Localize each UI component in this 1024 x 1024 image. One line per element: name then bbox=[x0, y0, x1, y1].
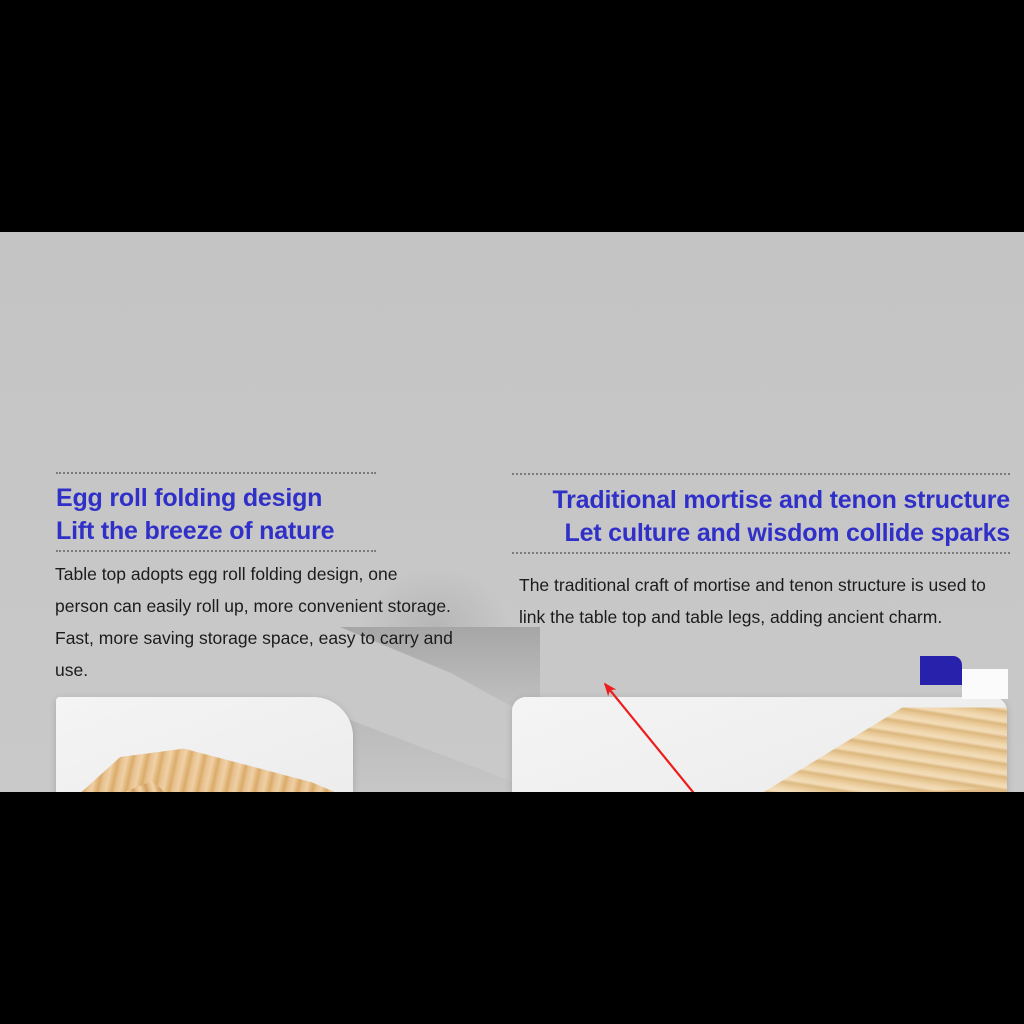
left-heading-line-2: Lift the breeze of nature bbox=[56, 515, 334, 548]
right-divider-bottom bbox=[512, 552, 1010, 554]
right-panel-heading: Traditional mortise and tenon structure … bbox=[512, 484, 1010, 550]
decor-blue-badge bbox=[920, 656, 962, 685]
decor-white-block bbox=[962, 669, 1008, 699]
content-band: Egg roll folding design Lift the breeze … bbox=[0, 232, 1024, 792]
left-panel-body: Table top adopts egg roll folding design… bbox=[55, 558, 455, 686]
callout-arrow-icon bbox=[580, 672, 740, 792]
right-heading-line-2: Let culture and wisdom collide sparks bbox=[512, 517, 1010, 550]
right-divider-top bbox=[512, 473, 1010, 475]
left-heading-line-1: Egg roll folding design bbox=[56, 482, 334, 515]
rolled-table-illustration bbox=[56, 735, 353, 792]
letterbox-bottom bbox=[0, 792, 1024, 1024]
right-panel-body: The traditional craft of mortise and ten… bbox=[519, 569, 1014, 633]
letterbox-top bbox=[0, 0, 1024, 232]
left-product-photo bbox=[56, 697, 353, 792]
slide-stage: Egg roll folding design Lift the breeze … bbox=[0, 0, 1024, 1024]
left-divider-bottom bbox=[56, 550, 376, 552]
right-heading-line-1: Traditional mortise and tenon structure bbox=[512, 484, 1010, 517]
left-panel-heading: Egg roll folding design Lift the breeze … bbox=[56, 482, 334, 548]
left-divider-top bbox=[56, 472, 376, 474]
curved-slat-shading bbox=[68, 743, 353, 792]
